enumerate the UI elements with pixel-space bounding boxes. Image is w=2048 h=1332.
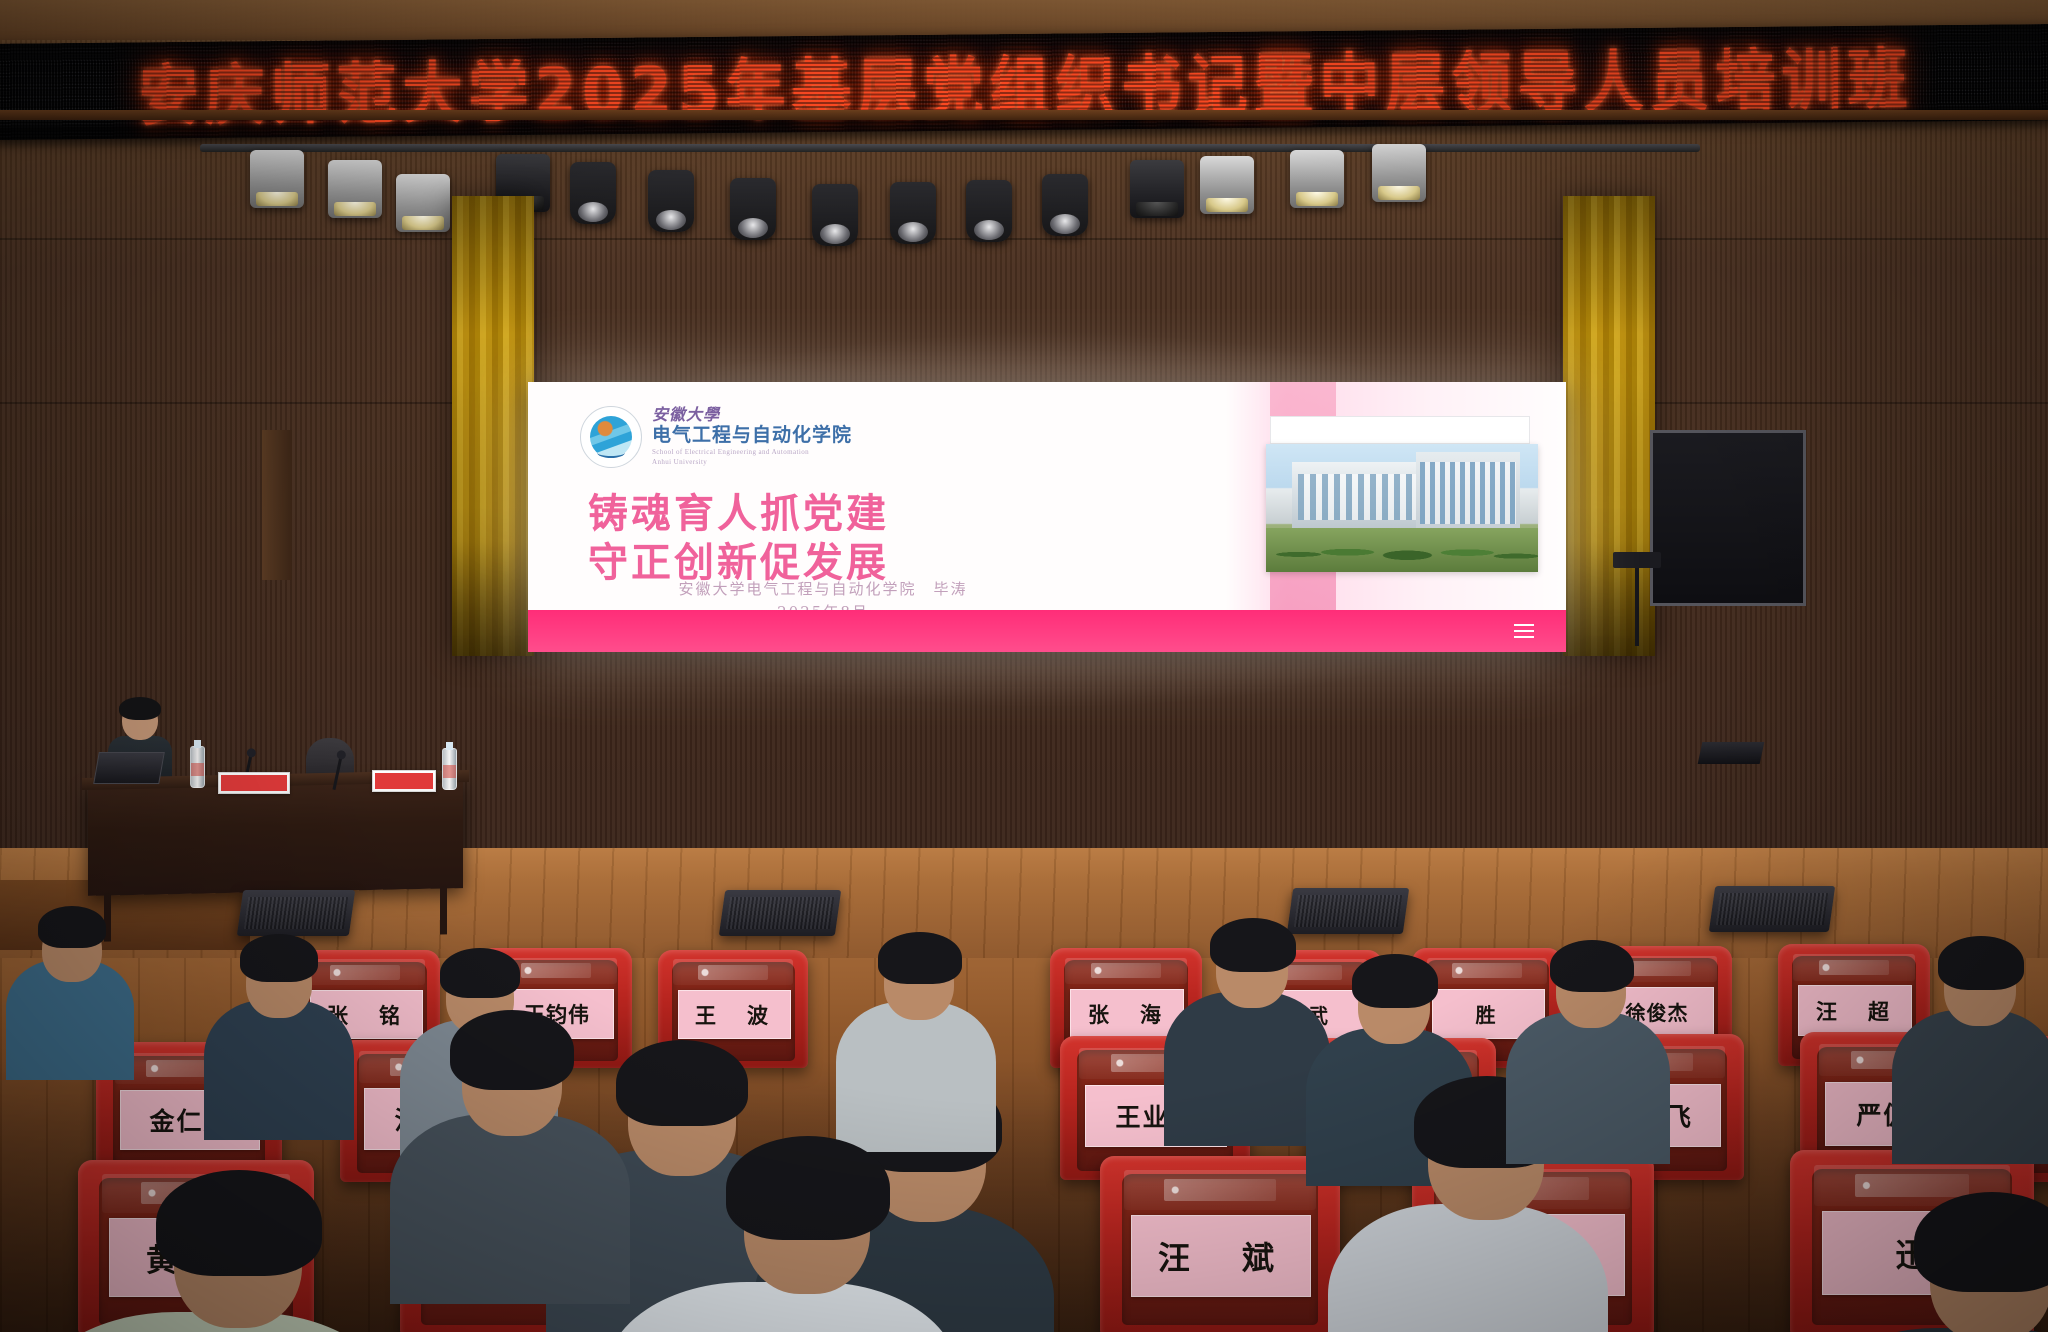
seat-nameplate: 汪 超 — [1798, 985, 1912, 1036]
stage-curtain-right — [1563, 196, 1655, 656]
slide-white-box — [1270, 416, 1530, 444]
slide-building-photo — [1266, 444, 1538, 572]
stage-edge — [0, 110, 2048, 120]
control-laptop — [1698, 742, 1765, 764]
spotlight-icon — [1290, 150, 1344, 208]
camera-tripod — [1635, 566, 1639, 646]
lighting-truss — [200, 150, 1700, 240]
hamburger-menu-icon — [1514, 624, 1534, 638]
slide-attribution: 安徽大学电气工程与自动化学院 毕涛 2025年8月 — [588, 578, 1058, 610]
spotlight-icon — [250, 150, 304, 208]
logo-english-line1: School of Electrical Engineering and Aut… — [652, 448, 852, 457]
photo-trees — [1266, 528, 1538, 572]
moving-head-light-icon — [570, 162, 616, 224]
table-nameplate — [372, 770, 436, 792]
moving-head-light-icon — [966, 180, 1012, 242]
stage-monitor-speaker — [237, 890, 355, 936]
photo-building-right — [1416, 452, 1520, 536]
slide-presenter: 安徽大学电气工程与自动化学院 毕涛 — [588, 578, 1058, 601]
truss-bar — [200, 144, 1700, 152]
seat-nameplate: 汪 斌 — [1131, 1215, 1311, 1296]
stage-curtain-left — [452, 196, 534, 656]
table-nameplate — [218, 772, 290, 794]
moving-head-light-icon — [890, 182, 936, 244]
water-bottle — [442, 748, 457, 790]
presidium-table — [88, 778, 463, 896]
slide-logo: 安徽大學 电气工程与自动化学院 School of Electrical Eng… — [580, 406, 852, 468]
logo-school-name: 电气工程与自动化学院 — [652, 426, 852, 446]
auditorium-scene: 安庆师范大学2025年基层党组织书记暨中层领导人员培训班 — [0, 0, 2048, 1332]
stage-monitor-speaker — [719, 890, 841, 936]
moving-head-light-icon — [1042, 174, 1088, 236]
stage-monitor-speaker — [1709, 886, 1835, 932]
seat[interactable]: 汪 斌 — [1100, 1156, 1340, 1332]
moving-head-light-icon — [812, 184, 858, 246]
spotlight-icon — [396, 174, 450, 232]
seat-nameplate: 张 海 — [1070, 989, 1184, 1039]
stage-monitor-speaker — [1287, 888, 1409, 934]
moving-head-light-icon — [730, 178, 776, 240]
logo-university-name: 安徽大學 — [652, 407, 852, 424]
presenter-laptop — [96, 752, 168, 786]
slide-date: 2025年8月 — [588, 601, 1058, 611]
wall-pillar — [262, 430, 292, 580]
presentation-slide: 安徽大學 电气工程与自动化学院 School of Electrical Eng… — [528, 382, 1566, 610]
spotlight-icon — [328, 160, 382, 218]
spotlight-icon — [1130, 160, 1184, 218]
projection-screen: 安徽大學 电气工程与自动化学院 School of Electrical Eng… — [528, 382, 1566, 652]
moving-head-light-icon — [648, 170, 694, 232]
slide-bottom-bar — [528, 610, 1566, 652]
water-bottle — [190, 746, 205, 788]
side-doorway — [1650, 430, 1806, 606]
spotlight-icon — [1372, 144, 1426, 202]
slide-title: 铸魂育人抓党建 守正创新促发展 — [588, 490, 1048, 588]
logo-english-line2: Anhui University — [652, 458, 852, 467]
slide-title-line1: 铸魂育人抓党建 — [588, 490, 1048, 539]
seat-nameplate: 王 波 — [678, 990, 791, 1039]
spotlight-icon — [1200, 156, 1254, 214]
anhui-university-emblem-icon — [580, 406, 642, 468]
